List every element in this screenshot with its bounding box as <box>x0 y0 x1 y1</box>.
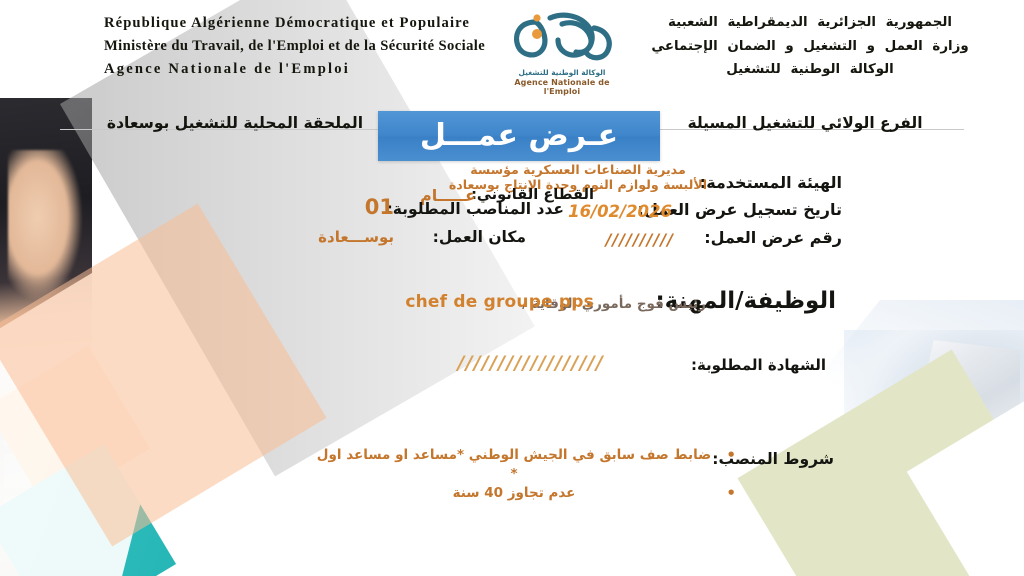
row-employer: الهيئة المستخدمة: مديرية الصناعات العسكر… <box>0 170 1024 198</box>
white-olive-cut-wedge <box>907 369 1024 576</box>
offer-number-label: رقم عرض العمل: <box>704 228 842 247</box>
wilaya-office-label: الفرع الولائي للتشغيل المسيلة <box>640 114 970 132</box>
job-title-value-french: chef de groupe pps <box>405 292 594 312</box>
office-photo <box>0 400 92 576</box>
local-office-label: الملحقة المحلية للتشغيل بوسعادة <box>70 114 400 132</box>
header-french-line-2: Ministère du Travail, de l'Emploi et de … <box>104 35 504 58</box>
header-arabic-line-3: الوكالة الوطنية للتشغيل <box>610 58 1010 82</box>
bullet-icon: • <box>726 446 736 465</box>
office-tile <box>34 454 60 488</box>
header-arabic-block: الجمهورية الجزائرية الديمقراطية الشعبية … <box>610 11 1010 82</box>
logo-caption-arabic: الوكالة الوطنية للتشغيل <box>500 68 624 77</box>
bullet-icon: • <box>726 484 736 503</box>
title-banner: عـرض عمـــل <box>378 111 660 161</box>
header-french-line-1: République Algérienne Démocratique et Po… <box>104 12 504 35</box>
header-french-line-3: Agence Nationale de l'Emploi <box>104 58 504 81</box>
office-tile <box>4 412 30 446</box>
positions-count-value: 01 <box>365 195 394 219</box>
offer-details: الهيئة المستخدمة: مديرية الصناعات العسكر… <box>0 170 1024 254</box>
required-certificate-label: الشهادة المطلوبة: <box>691 356 826 374</box>
office-tile <box>64 454 90 488</box>
row-job-title: الوظيفة/المهنة: رئيس فوج مأموري الوقاية … <box>0 288 1024 328</box>
offer-number-value: ////////// <box>606 230 674 249</box>
list-item: • عدم تجاوز 40 سنة <box>314 484 714 503</box>
employer-value-line-1: مديرية الصناعات العسكرية مؤسسة <box>470 162 686 177</box>
list-item: • ضابط صف سابق في الجيش الوطني *مساعد او… <box>314 446 714 484</box>
registration-date-value: 16/02/2026 <box>568 202 672 221</box>
row-offer-number: رقم عرض العمل: ////////// مكان العمل: بو… <box>0 226 1024 254</box>
row-required-certificate: الشهادة المطلوبة: ////////////////// <box>0 352 1024 382</box>
header-arabic-line-1: الجمهورية الجزائرية الديمقراطية الشعبية <box>610 11 1010 35</box>
office-tile <box>4 496 30 530</box>
required-certificate-value: ////////////////// <box>457 352 604 374</box>
job-offer-page: République Algérienne Démocratique et Po… <box>0 0 1024 576</box>
anem-logo: الوكالة الوطنية للتشغيل Agence Nationale… <box>500 6 624 98</box>
logo-caption-french: Agence Nationale de l'Emploi <box>500 78 624 96</box>
work-place-value: بوســـعادة <box>318 228 394 246</box>
header-arabic-line-2: وزارة العمل و التشغيل و الضمان الإجتماعي <box>610 35 1010 59</box>
work-place-label: مكان العمل: <box>433 228 526 246</box>
conditions-list: • ضابط صف سابق في الجيش الوطني *مساعد او… <box>314 446 714 503</box>
header-french-block: République Algérienne Démocratique et Po… <box>104 12 504 81</box>
condition-text: عدم تجاوز 40 سنة <box>453 485 576 501</box>
teal-accent-block <box>0 444 176 576</box>
office-tile <box>64 412 90 446</box>
office-tile <box>4 454 30 488</box>
positions-count-label: عدد المناصب المطلوبة: <box>387 200 564 218</box>
row-registration-date: تاريخ تسجيل عرض العمل: 16/02/2026 عدد ال… <box>0 198 1024 226</box>
document-header: République Algérienne Démocratique et Po… <box>0 0 1024 100</box>
anem-logo-icon <box>506 6 618 68</box>
office-tile <box>34 412 60 446</box>
condition-text: ضابط صف سابق في الجيش الوطني *مساعد او م… <box>317 447 711 482</box>
